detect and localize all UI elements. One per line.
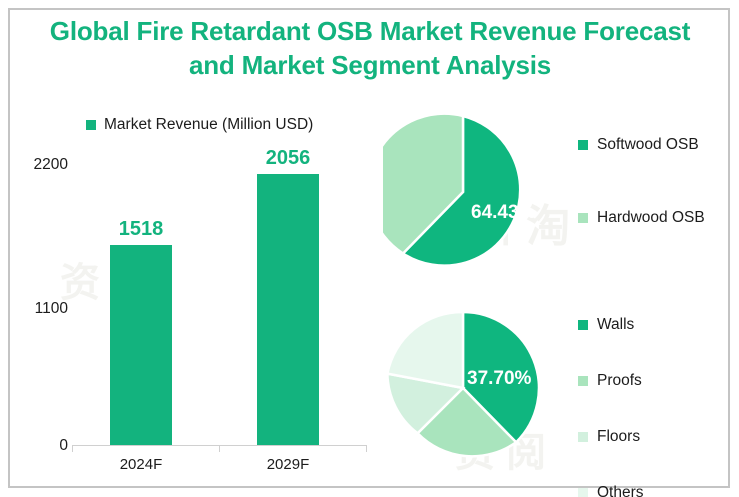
pie-bottom-legend: Walls Proofs Floors Others [578, 316, 644, 497]
legend-item-hardwood-osb: Hardwood OSB [578, 209, 705, 227]
legend-label-hardwood-osb: Hardwood OSB [597, 209, 705, 227]
legend-item-others: Others [578, 484, 644, 497]
pie-chart-application: 37.70% Walls Proofs Floors Others [383, 308, 728, 483]
legend-swatch-icon [86, 120, 96, 130]
y-axis-tick-1100: 1100 [35, 300, 68, 318]
legend-label-softwood-osb: Softwood OSB [597, 136, 699, 154]
bar-value-2024F: 1518 [110, 218, 172, 241]
bar-chart-legend: Market Revenue (Million USD) [86, 116, 313, 134]
pie-bottom-value-label: 37.70% [467, 368, 531, 390]
bar-2024F [110, 245, 172, 445]
legend-swatch-icon-walls [578, 320, 588, 330]
x-axis-tick-end [366, 445, 367, 452]
legend-label-others: Others [597, 484, 644, 497]
y-axis-tick-2200: 2200 [34, 156, 68, 174]
legend-swatch-icon-softwood [578, 140, 588, 150]
legend-label-floors: Floors [597, 428, 640, 446]
page-title-line-2: and Market Segment Analysis [20, 48, 720, 82]
bar-2029F [257, 174, 319, 445]
pie-top-value-label: 64.43% [471, 202, 535, 224]
pie-slice-others [387, 312, 463, 388]
legend-label-proofs: Proofs [597, 372, 642, 390]
page-title: Global Fire Retardant OSB Market Revenue… [20, 14, 720, 82]
y-axis-tick-0: 0 [59, 437, 68, 455]
legend-item-walls: Walls [578, 316, 644, 334]
legend-swatch-icon-floors [578, 432, 588, 442]
legend-item-floors: Floors [578, 428, 644, 446]
legend-label-walls: Walls [597, 316, 634, 334]
legend-swatch-icon-hardwood [578, 213, 588, 223]
infographic-canvas: 新 淘 资 资 阅 Global Fire Retardant OSB Mark… [0, 0, 739, 497]
bar-chart: Market Revenue (Million USD) 2200 1100 0… [14, 108, 374, 483]
legend-swatch-icon-others [578, 488, 588, 497]
page-title-line-1: Global Fire Retardant OSB Market Revenue… [20, 14, 720, 48]
bar-chart-legend-label: Market Revenue (Million USD) [104, 116, 313, 134]
x-axis-tick-mid [219, 445, 220, 452]
bar-value-2029F: 2056 [257, 147, 319, 170]
pie-top-legend: Softwood OSB Hardwood OSB [578, 136, 705, 227]
pie-top-svg [383, 112, 543, 272]
x-axis-label-2029F: 2029F [252, 456, 324, 473]
legend-item-proofs: Proofs [578, 372, 644, 390]
x-axis-label-2024F: 2024F [105, 456, 177, 473]
x-axis-tick-start [72, 445, 73, 452]
pie-chart-product-type: 64.43% Softwood OSB Hardwood OSB [383, 112, 728, 282]
legend-item-softwood-osb: Softwood OSB [578, 136, 705, 154]
legend-swatch-icon-proofs [578, 376, 588, 386]
